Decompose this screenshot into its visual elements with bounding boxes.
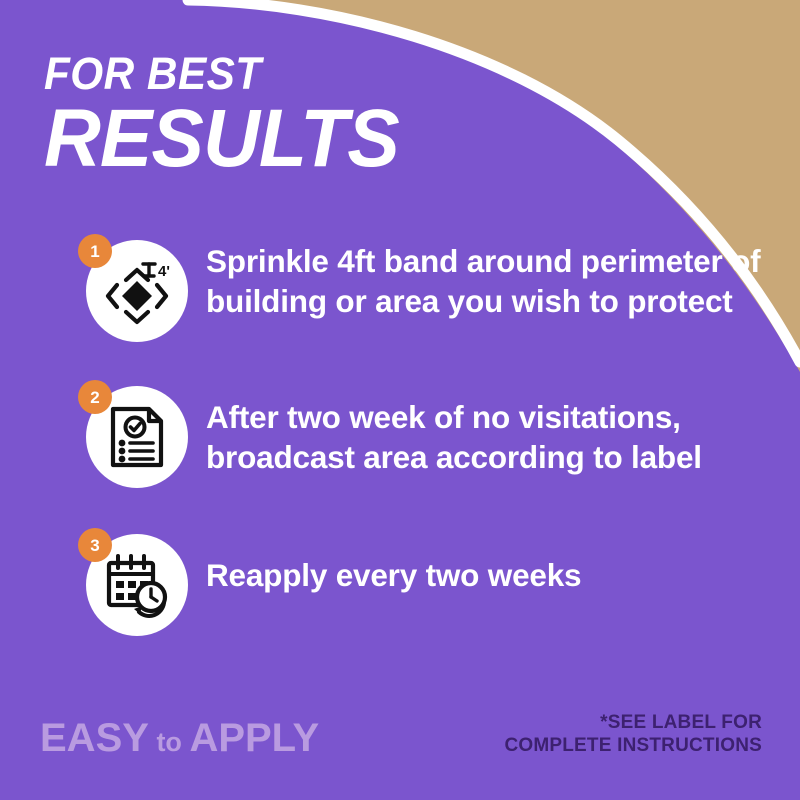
- icon-measure-label: 4': [158, 263, 170, 280]
- title-line-one: FOR BEST: [44, 52, 391, 96]
- step-number-badge: 3: [78, 528, 112, 562]
- title-line-two: RESULTS: [44, 98, 399, 180]
- step-icon-wrap: 1: [78, 232, 196, 350]
- page-title: FOR BEST RESULTS: [44, 52, 414, 180]
- calendar-clock-repeat-icon: [101, 551, 173, 619]
- tagline-to: to: [149, 727, 190, 757]
- step-text: After two week of no visitations, broadc…: [206, 398, 800, 477]
- diamond-fill: [122, 281, 152, 311]
- step-icon-wrap: 3: [78, 526, 196, 644]
- steps-list: 1: [0, 232, 800, 644]
- list-item: 2: [0, 378, 800, 496]
- list-item: 1: [0, 232, 800, 350]
- disclaimer-line-two: COMPLETE INSTRUCTIONS: [504, 734, 762, 758]
- list-item: 3: [0, 526, 800, 644]
- easy-to-apply-tagline: EASY to APPLY: [40, 718, 319, 758]
- checklist-document-icon: [103, 403, 171, 471]
- step-text: Sprinkle 4ft band around perimeter of bu…: [206, 242, 800, 321]
- tagline-easy: EASY: [40, 716, 149, 760]
- poster-canvas: FOR BEST RESULTS 1: [0, 0, 800, 800]
- tagline-apply: APPLY: [189, 716, 319, 760]
- step-number-badge: 2: [78, 380, 112, 414]
- step-text: Reapply every two weeks: [206, 556, 581, 596]
- disclaimer-line-one: *SEE LABEL FOR: [504, 711, 762, 735]
- step-icon-wrap: 2: [78, 378, 196, 496]
- step-number-badge: 1: [78, 234, 112, 268]
- diamond-spread-4ft-icon: 4': [100, 254, 174, 328]
- see-label-disclaimer: *SEE LABEL FOR COMPLETE INSTRUCTIONS: [504, 711, 762, 759]
